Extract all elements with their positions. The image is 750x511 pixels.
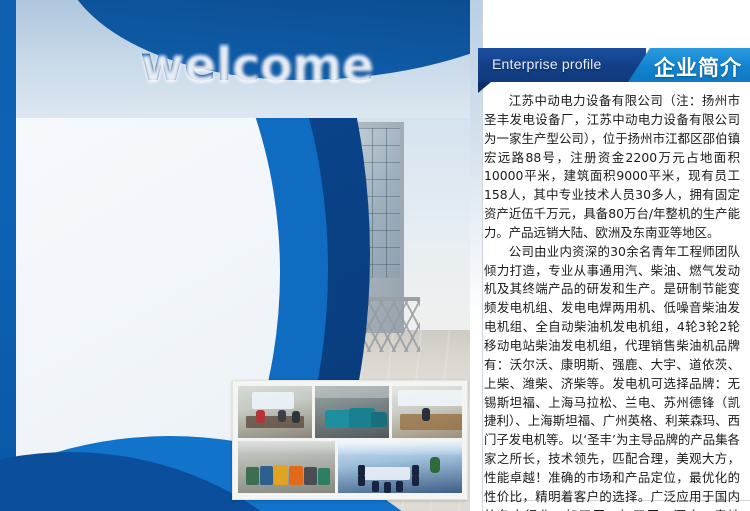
photo-gallery [232, 380, 468, 500]
profile-paragraph-2: 公司由业内资深的30余名青年工程师团队倾力打造，专业从事通用汽、柴油、燃气发动机… [484, 243, 740, 511]
gallery-row-top [238, 386, 462, 438]
hero-panel: 中动电力 江苏中动电力设备有限公司 Zhongdong Power Equipm… [0, 0, 470, 511]
welcome-headline: welcome [140, 36, 374, 92]
banner-chinese-label: 企业简介 [654, 52, 742, 82]
company-profile-page: 中动电力 江苏中动电力设备有限公司 Zhongdong Power Equipm… [0, 0, 750, 511]
meeting-room-photo [238, 386, 312, 438]
left-edge-strip [0, 0, 16, 511]
section-banner: Enterprise profile 企业简介 [478, 48, 750, 82]
conference-room-photo [338, 441, 462, 493]
profile-paragraph-1: 江苏中动电力设备有限公司（注：扬州市圣丰发电设备厂，江苏中动电力设备有限公司为一… [484, 92, 740, 243]
office-reception-photo [392, 386, 462, 438]
generator-warehouse-photo [238, 441, 335, 493]
banner-english-label: Enterprise profile [492, 56, 601, 72]
profile-body: 江苏中动电力设备有限公司（注：扬州市圣丰发电设备厂，江苏中动电力设备有限公司为一… [484, 92, 740, 511]
generator-factory-photo [315, 386, 389, 438]
profile-panel: Enterprise profile 企业简介 江苏中动电力设备有限公司（注：扬… [470, 0, 750, 511]
gallery-row-bottom [238, 441, 462, 493]
